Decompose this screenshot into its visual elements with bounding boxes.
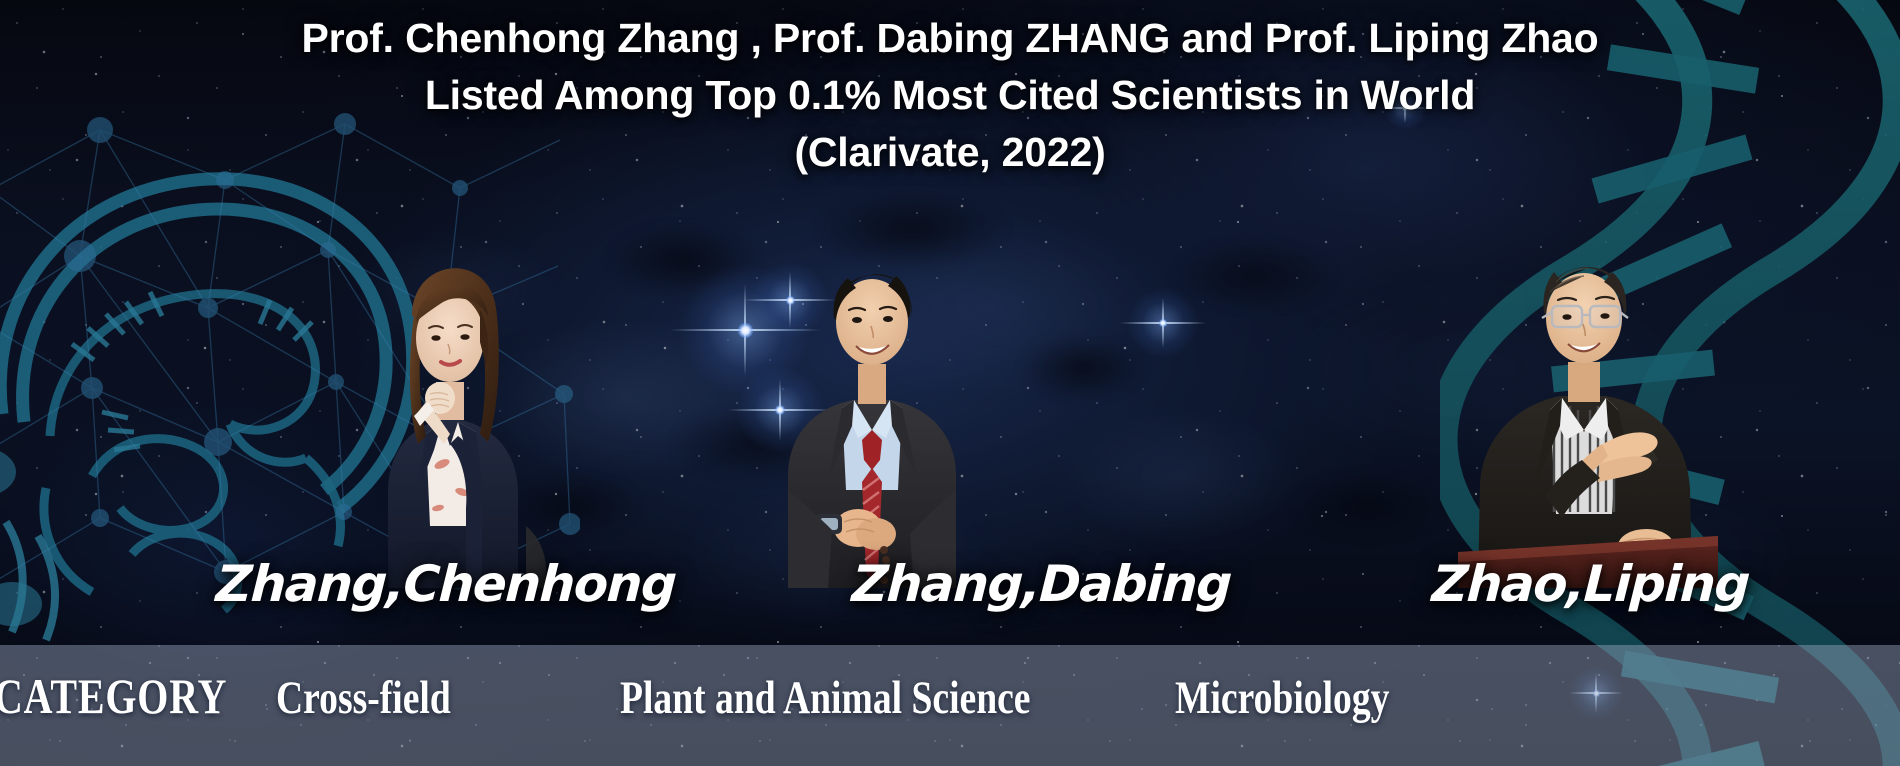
category-value-plant-and-animal-science: Plant and Animal Science	[620, 671, 1031, 725]
name-label-zhang-chenhong: Zhang,Chenhong	[215, 556, 677, 612]
name-label-row: Zhang,Chenhong Zhang,Dabing Zhao,Liping	[0, 0, 1900, 648]
category-bar: CATEGORY Cross-field Plant and Animal Sc…	[0, 645, 1900, 766]
name-label-zhang-dabing: Zhang,Dabing	[851, 556, 1233, 612]
category-value-microbiology: Microbiology	[1175, 671, 1389, 725]
highly-cited-researchers-banner: Prof. Chenhong Zhang , Prof. Dabing ZHAN…	[0, 0, 1900, 766]
name-label-zhao-liping: Zhao,Liping	[1431, 556, 1751, 612]
category-heading: CATEGORY	[0, 667, 227, 725]
category-value-cross-field: Cross-field	[276, 671, 451, 725]
